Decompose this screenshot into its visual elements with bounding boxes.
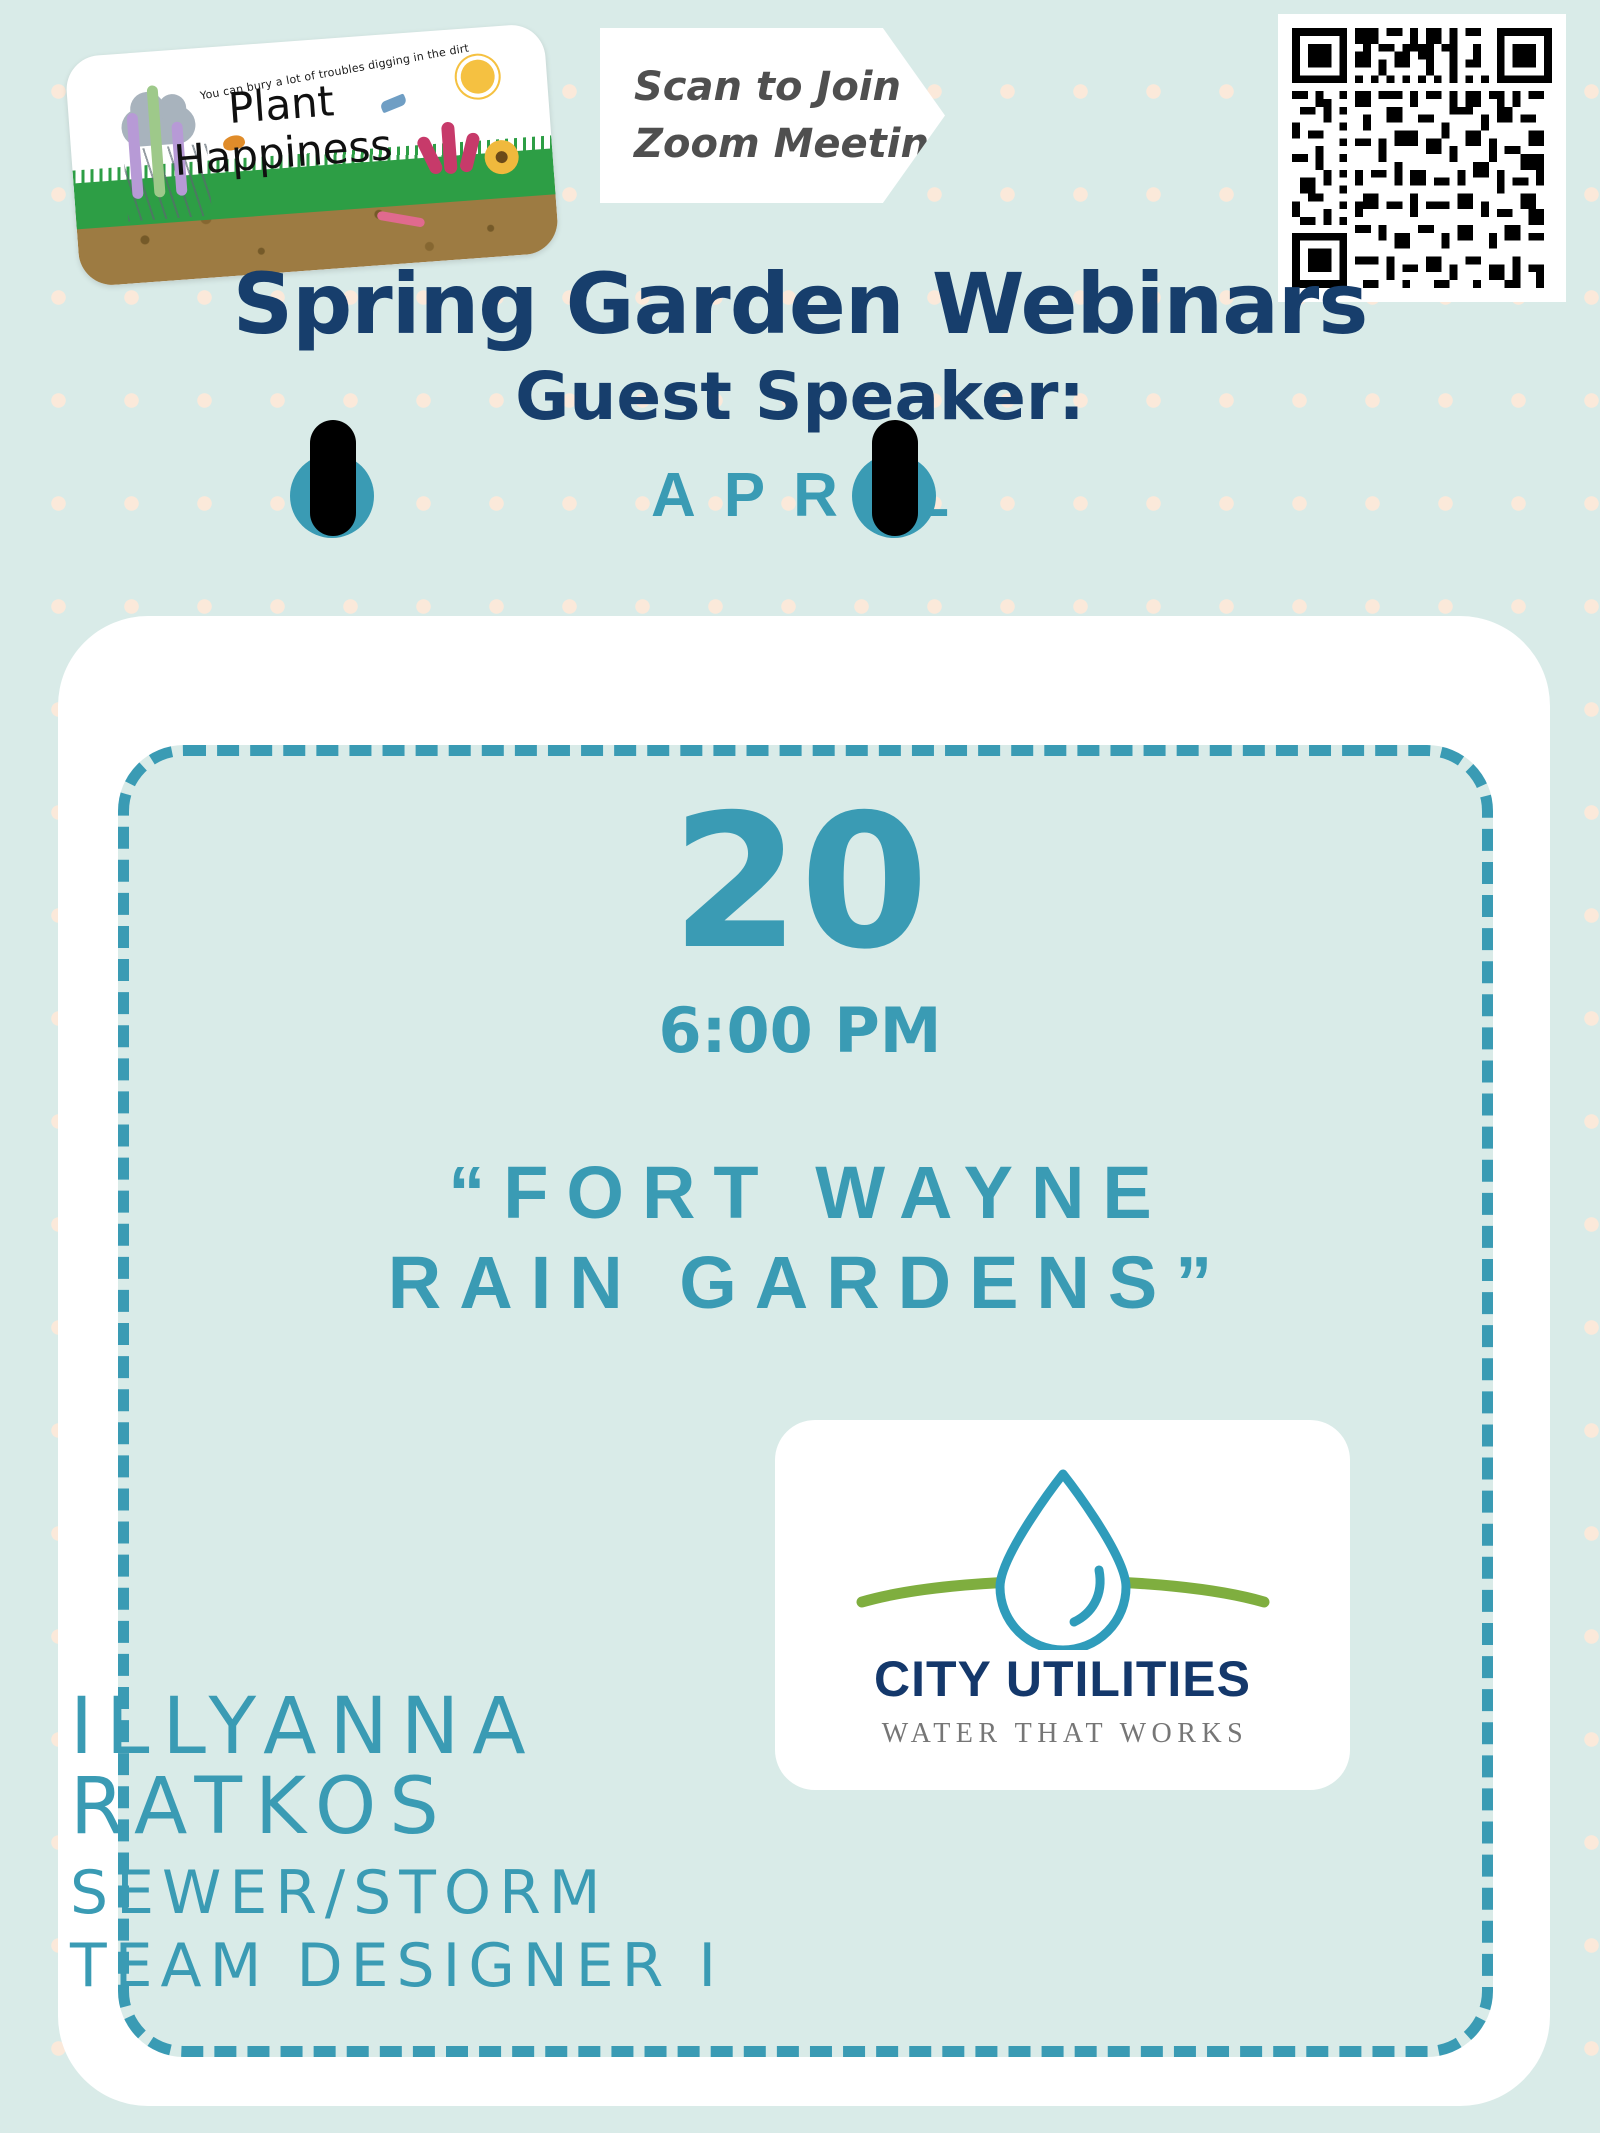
city-utilities-logo: CITY UTILITIES WATER THAT WORKS [775, 1420, 1350, 1790]
ring-pin-icon [310, 420, 356, 536]
water-drop-icon [1000, 1474, 1126, 1650]
event-day: 20 [0, 790, 1600, 975]
ring-pin-icon [872, 420, 918, 536]
heading-group: Spring Garden Webinars Guest Speaker: [0, 262, 1600, 430]
city-utilities-mark [848, 1450, 1278, 1650]
sponsor-name: CITY UTILITIES [874, 1654, 1251, 1704]
speaker-name: ILLYANNA RATKOS [70, 1688, 724, 1847]
calendar-ring-left [290, 420, 374, 504]
plant-happiness-logo: You can bury a lot of troubles digging i… [64, 23, 560, 288]
page-subtitle: Guest Speaker: [0, 364, 1600, 430]
speaker-role: SEWER/STORM TEAM DESIGNER I [70, 1857, 724, 2003]
event-time: 6:00 PM [0, 1000, 1600, 1062]
scan-to-join-banner: Scan to Join Zoom Meeting [600, 28, 945, 203]
speaker-role-line-2: TEAM DESIGNER I [70, 1930, 724, 2003]
speaker-block: ILLYANNA RATKOS SEWER/STORM TEAM DESIGNE… [70, 1688, 724, 2003]
page-title: Spring Garden Webinars [0, 262, 1600, 346]
calendar-ring-right [852, 420, 936, 504]
talk-title-line-2: RAIN GARDENS” [0, 1238, 1600, 1328]
sponsor-tagline: WATER THAT WORKS [877, 1718, 1248, 1750]
speaker-last-name: RATKOS [70, 1768, 724, 1848]
speaker-role-line-1: SEWER/STORM [70, 1857, 724, 1930]
event-month: APRIL [0, 460, 1600, 531]
speaker-first-name: ILLYANNA [70, 1688, 724, 1768]
scan-banner-line-2: Zoom Meeting [634, 116, 945, 173]
talk-title-line-1: “FORT WAYNE [0, 1148, 1600, 1238]
plant-happiness-card: You can bury a lot of troubles digging i… [64, 23, 560, 288]
talk-title: “FORT WAYNE RAIN GARDENS” [0, 1148, 1600, 1329]
flyer-poster: You can bury a lot of troubles digging i… [0, 0, 1600, 2133]
scan-banner-line-1: Scan to Join [634, 59, 945, 116]
